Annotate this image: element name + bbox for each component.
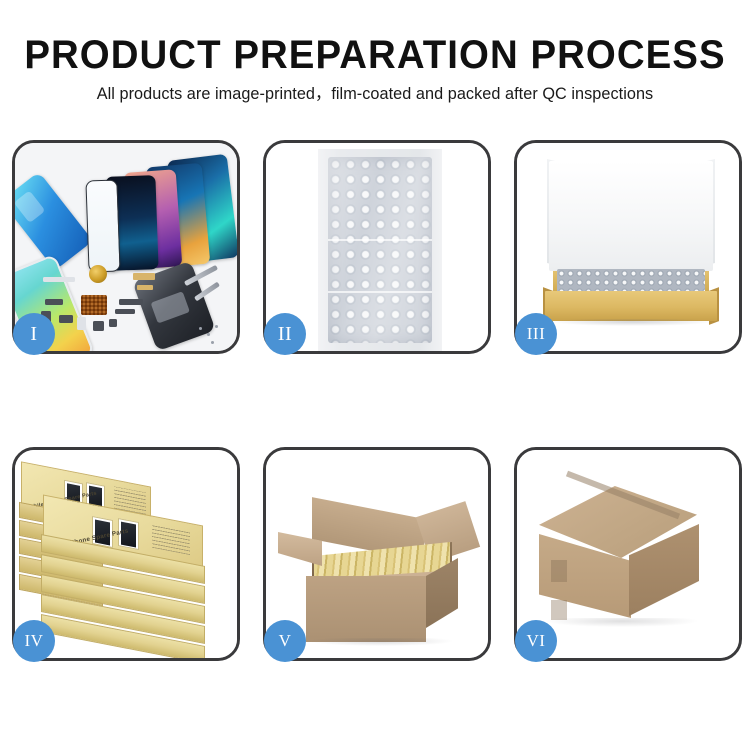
earpiece-part [93,321,104,331]
process-step-card-2[interactable]: II [263,140,491,354]
flex-strip-part [43,277,75,282]
process-step-card-5[interactable]: V [263,447,491,661]
process-step-card-3[interactable]: III [514,140,742,354]
step-badge-4: IV [13,620,55,662]
inner-box-kraft-front [545,291,717,321]
step-badge-1: I [13,313,55,355]
sealed-carton-tape-upper [551,560,567,582]
cable-part-b [115,309,135,314]
ic-chip-part [109,319,117,327]
screw-part-4 [211,341,214,344]
bubble-wrap-seam-2 [328,291,432,293]
carton-front-panel [306,576,426,642]
gold-flex-cable-part [133,273,155,280]
cable-part-a [119,299,143,305]
inner-box-shadow [553,319,711,326]
page-subtitle: All products are image-printed，film-coat… [6,77,745,104]
page-title: PRODUCT PREPARATION PROCESS [15,0,735,77]
screw-part-3 [215,325,218,328]
bubble-wrap-seam-1 [328,239,432,241]
inner-box-white-lid [549,161,713,271]
screw-part-2 [207,333,210,336]
pry-tool [194,282,220,302]
sim-tray-part [77,317,86,330]
copper-mesh-part [81,295,107,315]
step-badge-5: V [264,620,306,662]
sealed-carton-tape-lower [551,600,567,620]
process-step-card-1[interactable]: I [12,140,240,354]
page-header: PRODUCT PREPARATION PROCESS All products… [0,0,750,130]
step-badge-2: II [264,313,306,355]
process-step-card-4[interactable]: Mobile Phone Spare Parts Mobile Phone Sp… [12,447,240,661]
sealed-carton-shadow [547,618,697,627]
step-badge-3: III [515,313,557,355]
process-step-grid: I II III [12,140,738,675]
bubble-wrapped-item-in-box [557,269,705,293]
bubble-wrap-highlight [328,157,432,343]
step-badge-6: VI [515,620,557,662]
button-part [59,315,73,323]
carton-shadow [310,638,452,646]
gold-connector-part [137,285,153,290]
screw-part-1 [199,327,202,330]
vibration-motor-part [89,265,107,283]
process-step-card-6[interactable]: VI [514,447,742,661]
camera-module-part [45,299,63,305]
retail-box-text-lines-front [152,523,190,555]
